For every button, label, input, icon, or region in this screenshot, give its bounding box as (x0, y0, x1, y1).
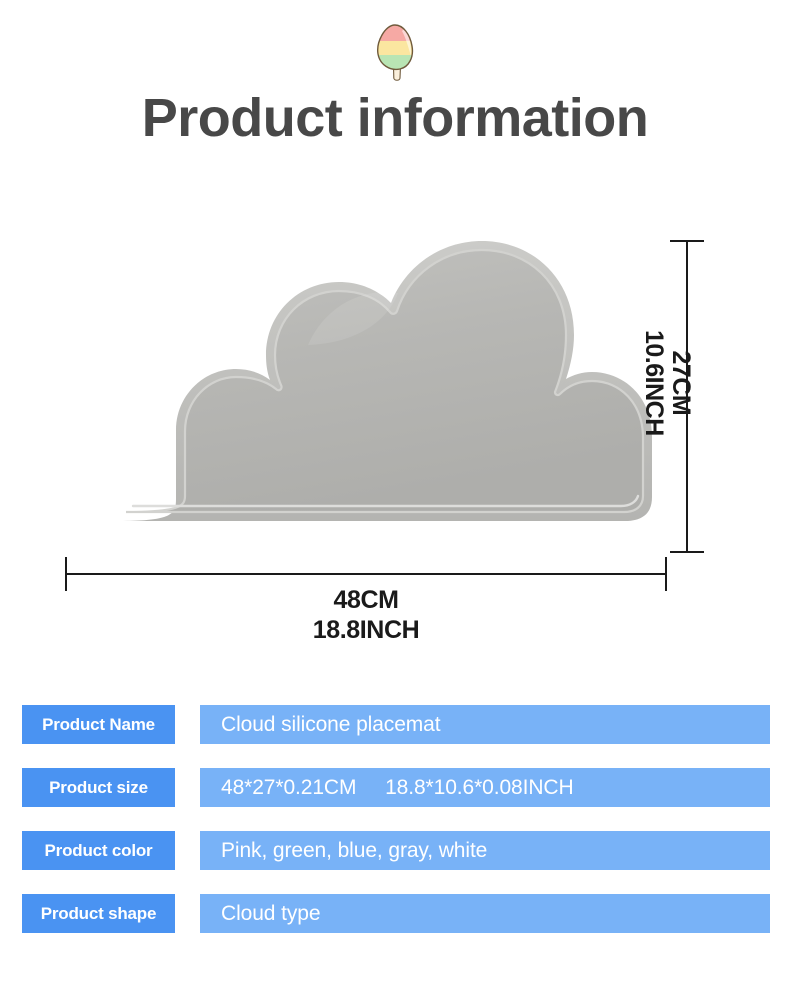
spec-label-product-shape: Product shape (22, 894, 175, 933)
height-dimension-inch: 10.6INCH (640, 330, 667, 436)
table-row: Product shape Cloud type (0, 894, 790, 933)
height-dimension-label: 27CM 10.6INCH (640, 330, 694, 436)
height-dimension-cm: 27CM (667, 330, 694, 436)
table-row: Product Name Cloud silicone placemat (0, 705, 790, 744)
spec-value-product-size: 48*27*0.21CM 18.8*10.6*0.08INCH (200, 768, 770, 807)
spec-label-product-name: Product Name (22, 705, 175, 744)
table-row: Product size 48*27*0.21CM 18.8*10.6*0.08… (0, 768, 790, 807)
table-row: Product color Pink, green, blue, gray, w… (0, 831, 790, 870)
width-dimension-label: 48CM 18.8INCH (66, 585, 666, 645)
width-dimension-line (66, 573, 667, 575)
cloud-silicone-placemat-image (58, 225, 678, 560)
spec-label-product-size: Product size (22, 768, 175, 807)
page-title: Product information (0, 90, 790, 147)
spec-value-product-color: Pink, green, blue, gray, white (200, 831, 770, 870)
spec-value-product-shape: Cloud type (200, 894, 770, 933)
page-header: Product information (0, 0, 790, 147)
width-dimension-cm: 48CM (66, 585, 666, 615)
cloud-mat-svg (58, 225, 678, 560)
spec-value-product-name: Cloud silicone placemat (200, 705, 770, 744)
spec-label-product-color: Product color (22, 831, 175, 870)
product-spec-table: Product Name Cloud silicone placemat Pro… (0, 705, 790, 957)
height-dimension-cap-top (670, 240, 704, 242)
height-dimension-cap-bottom (670, 551, 704, 553)
popsicle-icon (373, 22, 417, 84)
width-dimension-inch: 18.8INCH (66, 615, 666, 645)
